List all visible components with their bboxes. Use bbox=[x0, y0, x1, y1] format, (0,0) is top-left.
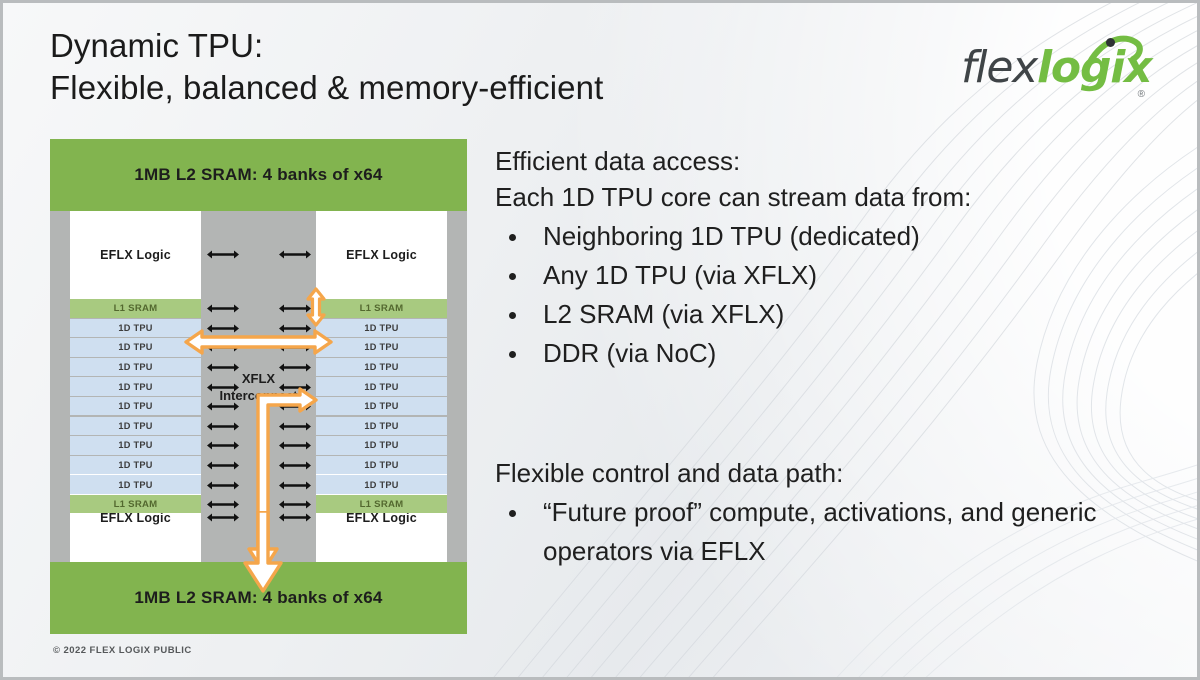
double-arrow-row-6-right bbox=[278, 421, 312, 432]
tpu-row-left-1: 1D TPU bbox=[70, 319, 201, 338]
tpu-row-right-4: 1D TPU bbox=[316, 377, 447, 396]
l2-sram-band-top: 1MB L2 SRAM: 4 banks of x64 bbox=[50, 139, 467, 211]
double-arrow-row-10-left bbox=[206, 499, 240, 510]
double-arrow-row-2-left bbox=[206, 342, 240, 353]
bullet-future-proof-0: “Future proof” compute, activations, and… bbox=[495, 493, 1175, 571]
diagram-core-area: EFLX Logic EFLX Logic EFLX Logic EFLX Lo… bbox=[50, 211, 467, 562]
double-arrow-row-5-left bbox=[206, 401, 240, 412]
tpu-row-left-3: 1D TPU bbox=[70, 358, 201, 377]
double-arrow-row-8-right bbox=[278, 460, 312, 471]
slide-canvas: Dynamic TPU: Flexible, balanced & memory… bbox=[0, 0, 1200, 680]
tpu-row-left-7: 1D TPU bbox=[70, 436, 201, 455]
bullet-list-future-proof: “Future proof” compute, activations, and… bbox=[495, 493, 1175, 571]
tpu-row-right-7: 1D TPU bbox=[316, 436, 447, 455]
xflx-label-line1: XFLX bbox=[242, 370, 275, 387]
left-row-stack: L1 SRAM1D TPU1D TPU1D TPU1D TPU1D TPU1D … bbox=[70, 299, 201, 515]
bullet-list-data-sources: Neighboring 1D TPU (dedicated)Any 1D TPU… bbox=[495, 217, 1155, 373]
logo-text-logix: logix bbox=[1037, 42, 1151, 93]
tpu-row-left-8: 1D TPU bbox=[70, 456, 201, 475]
tpu-row-right-3: 1D TPU bbox=[316, 358, 447, 377]
content-section-flexible-control: Flexible control and data path: “Future … bbox=[495, 455, 1175, 571]
bullet-data-source-2: L2 SRAM (via XFLX) bbox=[495, 295, 1155, 334]
l1-sram-row-right-0: L1 SRAM bbox=[316, 299, 447, 318]
logo-text-flex: flex bbox=[961, 42, 1037, 93]
eflx-logic-top-left: EFLX Logic bbox=[70, 211, 201, 299]
bullet-data-source-0: Neighboring 1D TPU (dedicated) bbox=[495, 217, 1155, 256]
tpu-row-right-5: 1D TPU bbox=[316, 397, 447, 416]
logo-wordmark: flexlogix bbox=[961, 42, 1151, 93]
tpu-row-right-2: 1D TPU bbox=[316, 338, 447, 357]
l1-sram-row-left-10: L1 SRAM bbox=[70, 495, 201, 514]
tpu-row-right-9: 1D TPU bbox=[316, 475, 447, 494]
double-arrow-row-2-right bbox=[278, 342, 312, 353]
tpu-row-right-1: 1D TPU bbox=[316, 319, 447, 338]
section1-line-1: Efficient data access: bbox=[495, 143, 1155, 179]
double-arrow-row-7-left bbox=[206, 440, 240, 451]
double-arrow-row-9-left bbox=[206, 480, 240, 491]
bullet-data-source-1: Any 1D TPU (via XFLX) bbox=[495, 256, 1155, 295]
section2-heading: Flexible control and data path: bbox=[495, 455, 1175, 491]
tpu-row-left-4: 1D TPU bbox=[70, 377, 201, 396]
double-arrow-row-8-left bbox=[206, 460, 240, 471]
tpu-row-left-9: 1D TPU bbox=[70, 475, 201, 494]
tpu-architecture-diagram: 1MB L2 SRAM: 4 banks of x64 EFLX Logic E… bbox=[50, 139, 467, 634]
double-arrow-row-0-right bbox=[278, 303, 312, 314]
bullet-data-source-3: DDR (via NoC) bbox=[495, 334, 1155, 373]
double-arrow-row-3-left bbox=[206, 362, 240, 373]
copyright-footer: © 2022 FLEX LOGIX PUBLIC bbox=[53, 645, 192, 656]
section1-line-2: Each 1D TPU core can stream data from: bbox=[495, 179, 1155, 215]
tpu-row-left-5: 1D TPU bbox=[70, 397, 201, 416]
double-arrow-row-6-left bbox=[206, 421, 240, 432]
double-arrow-row-7-right bbox=[278, 440, 312, 451]
double-arrow-eflx-bottom-left bbox=[206, 512, 240, 523]
double-arrow-row-1-right bbox=[278, 323, 312, 334]
tpu-row-left-2: 1D TPU bbox=[70, 338, 201, 357]
l1-sram-row-right-10: L1 SRAM bbox=[316, 495, 447, 514]
page-title: Dynamic TPU: Flexible, balanced & memory… bbox=[50, 25, 770, 109]
tpu-row-right-6: 1D TPU bbox=[316, 417, 447, 436]
double-arrow-row-1-left bbox=[206, 323, 240, 334]
page-title-line-2: Flexible, balanced & memory-efficient bbox=[50, 67, 770, 109]
double-arrow-row-9-right bbox=[278, 480, 312, 491]
tpu-row-left-6: 1D TPU bbox=[70, 417, 201, 436]
double-arrow-row-0-left bbox=[206, 303, 240, 314]
double-arrow-eflx-top-right bbox=[278, 249, 312, 260]
page-title-line-1: Dynamic TPU: bbox=[50, 27, 263, 64]
double-arrow-eflx-top-left bbox=[206, 249, 240, 260]
right-row-stack: L1 SRAM1D TPU1D TPU1D TPU1D TPU1D TPU1D … bbox=[316, 299, 447, 515]
logo-registered-mark: ® bbox=[1138, 89, 1145, 100]
l1-sram-row-left-0: L1 SRAM bbox=[70, 299, 201, 318]
double-arrow-eflx-bottom-right bbox=[278, 512, 312, 523]
eflx-logic-top-right: EFLX Logic bbox=[316, 211, 447, 299]
flexlogix-logo: flexlogix ® bbox=[961, 36, 1141, 98]
l2-sram-band-bottom: 1MB L2 SRAM: 4 banks of x64 bbox=[50, 562, 467, 634]
double-arrow-row-4-right bbox=[278, 382, 312, 393]
tpu-row-right-8: 1D TPU bbox=[316, 456, 447, 475]
double-arrow-row-5-right bbox=[278, 401, 312, 412]
double-arrow-row-3-right bbox=[278, 362, 312, 373]
content-section-efficient-data-access: Efficient data access: Each 1D TPU core … bbox=[495, 143, 1155, 373]
double-arrow-row-4-left bbox=[206, 382, 240, 393]
double-arrow-row-10-right bbox=[278, 499, 312, 510]
